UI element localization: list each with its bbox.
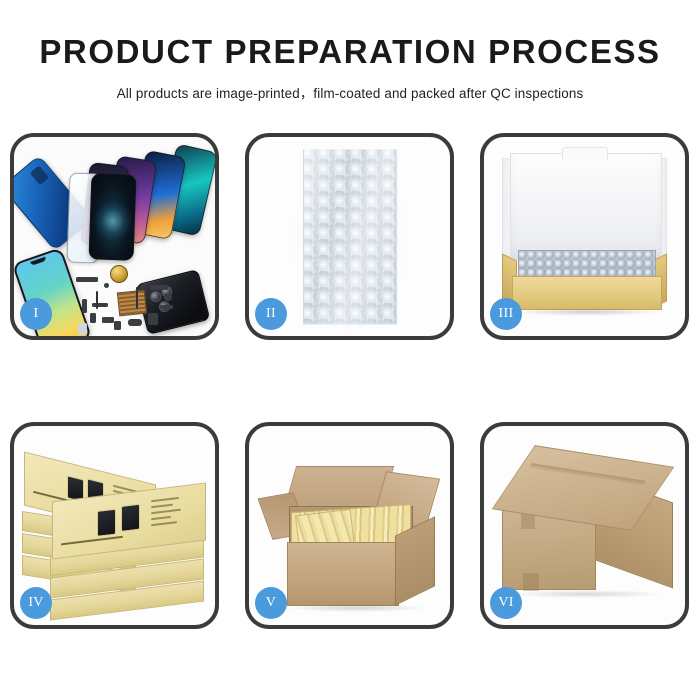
process-step-grid: I II III (10, 133, 690, 633)
box-lid-open (510, 153, 662, 260)
step-badge-1: I (20, 298, 52, 330)
sealed-shipping-carton (502, 456, 678, 606)
step-badge-4: IV (20, 587, 52, 619)
box-lid-tab (562, 147, 608, 160)
step-panel-6[interactable]: VI (480, 422, 689, 629)
step-badge-2: II (255, 298, 287, 330)
carton-front-panel (287, 542, 399, 606)
bubble-wrapped-product (303, 149, 397, 324)
step-badge-3: III (490, 298, 522, 330)
step-panel-3[interactable]: III (480, 133, 689, 340)
step-badge-5: V (255, 587, 287, 619)
page-title: PRODUCT PREPARATION PROCESS (0, 0, 700, 70)
step-panel-1[interactable]: I (10, 133, 219, 340)
step-panel-5[interactable]: V (245, 422, 454, 629)
step-panel-4[interactable]: IV (10, 422, 219, 629)
open-shipping-carton (263, 460, 443, 610)
sealed-carton-shadow (508, 590, 663, 598)
kraft-box-stack (22, 454, 214, 619)
spare-parts-cluster (74, 269, 204, 336)
page-header: PRODUCT PREPARATION PROCESS All products… (0, 0, 700, 102)
page-subtitle: All products are image-printed，film-coat… (0, 70, 700, 102)
step-badge-6: VI (490, 587, 522, 619)
box-front-panel (512, 276, 662, 310)
phone-black-front-screen (89, 173, 137, 261)
step-panel-2[interactable]: II (245, 133, 454, 340)
carton-shadow (287, 604, 427, 612)
box-shadow (514, 308, 659, 316)
